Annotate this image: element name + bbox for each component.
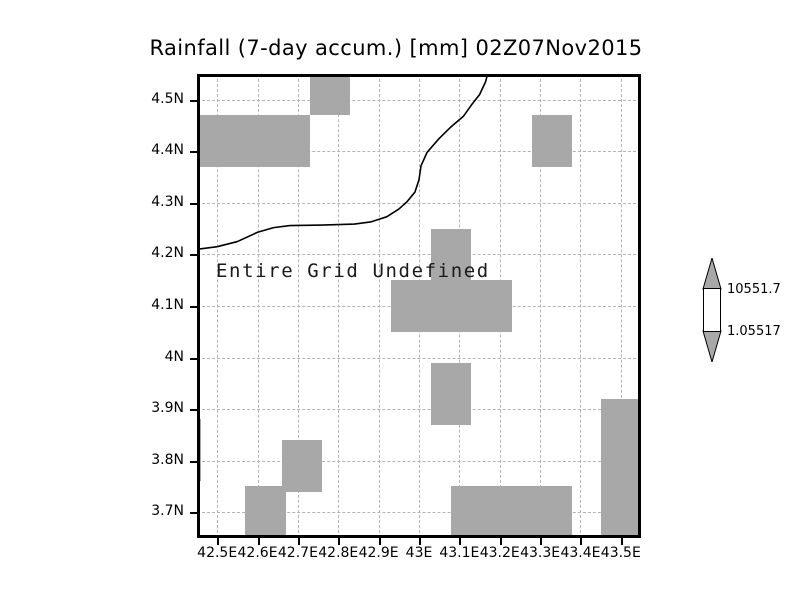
shaded-grid-cell xyxy=(197,419,201,481)
shaded-grid-cell xyxy=(310,74,350,115)
shaded-grid-cell xyxy=(282,440,322,492)
colorbar-lower-label: 1.05517 xyxy=(727,324,781,339)
x-axis-tick xyxy=(338,538,340,545)
y-axis-tick xyxy=(190,203,197,205)
y-axis-label: 4.1N xyxy=(100,297,184,313)
y-axis-label: 4.3N xyxy=(100,194,184,210)
gridline-horizontal xyxy=(197,254,641,255)
y-axis-tick xyxy=(190,306,197,308)
gridline-horizontal xyxy=(197,461,641,462)
x-axis-tick xyxy=(419,538,421,545)
y-axis-label: 4.2N xyxy=(100,245,184,261)
x-axis-tick xyxy=(258,538,260,545)
y-axis-label: 3.7N xyxy=(100,503,184,519)
y-axis-tick xyxy=(190,100,197,102)
y-axis-tick xyxy=(190,409,197,411)
x-axis-tick xyxy=(500,538,502,545)
y-axis-label: 3.9N xyxy=(100,400,184,416)
plot-area[interactable] xyxy=(197,74,641,538)
x-axis-tick xyxy=(540,538,542,545)
y-axis-tick xyxy=(190,512,197,514)
y-axis-tick xyxy=(190,254,197,256)
colorbar-middle-box xyxy=(703,288,721,332)
x-axis-tick xyxy=(621,538,623,545)
colorbar-upper-label: 10551.7 xyxy=(727,282,781,297)
x-axis-tick xyxy=(379,538,381,545)
plot-canvas: Rainfall (7-day accum.) [mm] 02Z07Nov201… xyxy=(0,0,792,612)
x-axis-tick xyxy=(298,538,300,545)
y-axis-label: 4.5N xyxy=(100,91,184,107)
x-axis-label: 43.5E xyxy=(586,545,656,561)
y-axis-label: 4.4N xyxy=(100,142,184,158)
x-axis-tick xyxy=(580,538,582,545)
x-axis-tick xyxy=(217,538,219,545)
y-axis-tick xyxy=(190,151,197,153)
shaded-grid-cell xyxy=(245,486,285,538)
shaded-grid-cell xyxy=(391,280,512,332)
shaded-grid-cell xyxy=(431,363,471,425)
shaded-grid-cell xyxy=(197,115,310,167)
gridline-horizontal xyxy=(197,100,641,101)
x-axis-tick xyxy=(459,538,461,545)
gridline-horizontal xyxy=(197,203,641,204)
y-axis-label: 4N xyxy=(100,349,184,365)
shaded-grid-cell xyxy=(601,399,641,538)
y-axis-tick xyxy=(190,461,197,463)
y-axis-tick xyxy=(190,358,197,360)
shaded-grid-cell xyxy=(451,486,572,538)
shaded-grid-cell xyxy=(532,115,572,167)
gridline-horizontal xyxy=(197,409,641,410)
page-title: Rainfall (7-day accum.) [mm] 02Z07Nov201… xyxy=(0,36,792,60)
entire-grid-undefined-message: Entire Grid Undefined xyxy=(216,260,490,282)
gridline-horizontal xyxy=(197,358,641,359)
rainfall-colorbar[interactable]: 10551.7 1.05517 xyxy=(699,258,725,362)
y-axis-label: 3.8N xyxy=(100,452,184,468)
